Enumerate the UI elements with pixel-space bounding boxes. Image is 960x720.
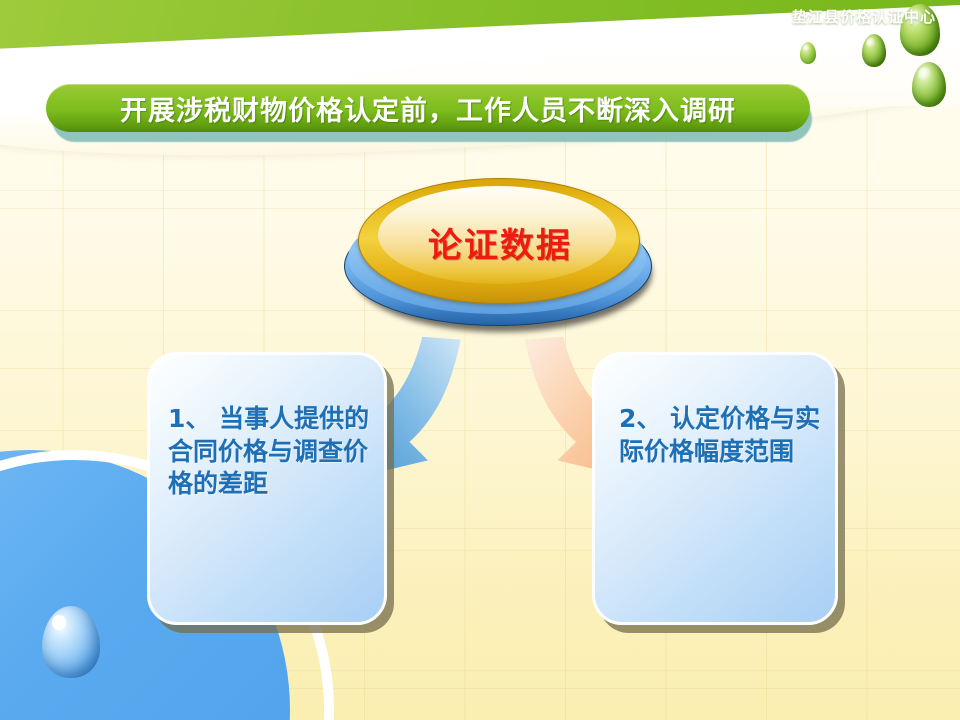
banner-title-text: 开展涉税财物价格认定前，工作人员不断深入调研 xyxy=(120,89,736,128)
green-droplet-icon-2 xyxy=(862,34,886,67)
slide-canvas: 垫江县价格认证中心 开展涉税财物价格认定前，工作人员不断深入调研 xyxy=(0,0,960,720)
green-droplet-icon-3 xyxy=(912,62,946,107)
title-banner: 开展涉税财物价格认定前，工作人员不断深入调研 xyxy=(46,84,810,132)
content-card-1-text: 1、 当事人提供的合同价格与调查价格的差距 xyxy=(168,403,374,501)
content-card-2[interactable]: 2、 认定价格与实际价格幅度范围 xyxy=(592,352,838,625)
green-droplet-icon-4 xyxy=(800,42,816,64)
content-card-1[interactable]: 1、 当事人提供的合同价格与调查价格的差距 xyxy=(147,352,387,625)
center-node[interactable]: 论证数据 xyxy=(344,176,656,334)
center-node-label: 论证数据 xyxy=(344,176,656,308)
content-card-2-text: 2、 认定价格与实际价格幅度范围 xyxy=(619,403,825,468)
org-title: 垫江县价格认证中心 xyxy=(792,6,936,27)
